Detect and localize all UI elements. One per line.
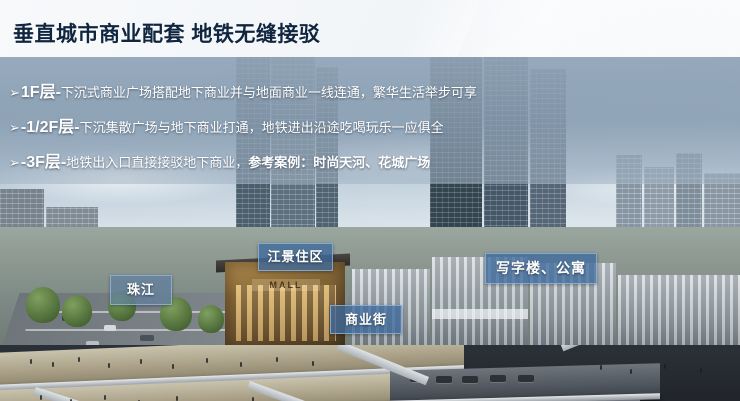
street-tree [198,305,224,333]
page-title: 垂直城市商业配套 地铁无缝接驳 [13,18,320,48]
bullet-arrow-icon: ➢ [9,155,20,170]
bullet-list: ➢1F层-下沉式商业广场搭配地下商业并与地面商业一线连通，繁华生活举步可享 ➢-… [0,57,740,187]
parked-car [518,375,534,382]
mall-signage: MALL [252,279,320,291]
map-label-commercial-street: 商业街 [330,305,402,334]
crowd-figure [252,397,254,401]
crowd-figure [172,364,174,369]
podium-window-grid [618,275,740,345]
retail-podium-d [618,275,740,345]
crowd-figure [176,396,178,401]
mall-glass-facade [236,285,336,341]
crowd-figure [104,395,106,400]
parked-car [490,375,506,382]
crowd-figure [600,365,602,370]
crowd-figure [30,359,32,364]
street-tree [26,287,60,323]
parked-car [462,376,478,383]
bullet-item-b3f: ➢-3F层-地铁出入口直接接驳地下商业，参考案例：时尚天河、花城广场 [9,148,430,172]
bullet-body-text: 地铁出入口直接接驳地下商业， [66,155,248,170]
parked-car [436,376,452,383]
bullet-item-1f: ➢1F层-下沉式商业广场搭配地下商业并与地面商业一线连通，繁华生活举步可享 [9,78,477,102]
map-label-riverview-residential: 江景住区 [258,243,333,271]
bullet-lead-label: 1F层 [21,84,56,101]
street-tree [62,295,92,327]
crowd-figure [78,357,80,362]
crowd-figure [108,363,110,368]
bullet-lead-label: -1/2F层 [21,119,74,136]
bullet-item-b1-2f: ➢-1/2F层-下沉集散广场与地下商业打通，地铁进出沿途吃喝玩乐一应俱全 [9,113,444,137]
bullet-body-text: 下沉集散广场与地下商业打通，地铁进出沿途吃喝玩乐一应俱全 [80,120,444,135]
crowd-figure [312,361,314,366]
map-label-office-apartment: 写字楼、公寓 [485,253,597,284]
street-car [104,325,116,331]
bullet-arrow-icon: ➢ [9,120,20,135]
bullet-lead-label: -3F层 [21,154,61,171]
bullet-arrow-icon: ➢ [9,85,20,100]
crowd-figure [140,359,142,364]
bullet-body-text: 下沉式商业广场搭配地下商业并与地面商业一线连通，繁华生活举步可享 [61,85,477,100]
crowd-figure [240,362,242,367]
crowd-figure [40,395,42,400]
hero-rendering: MALL [0,57,740,401]
crowd-figure [664,364,666,369]
street-car [140,335,154,341]
map-label-zhujiang: 珠江 [110,275,172,305]
escalator [560,345,643,351]
slide-header: 垂直城市商业配套 地铁无缝接驳 [0,0,740,57]
crowd-figure [52,362,54,367]
crowd-figure [276,357,278,362]
bullet-emphasis-text: 参考案例：时尚天河、花城广场 [248,155,430,170]
slide-root: 垂直城市商业配套 地铁无缝接驳 [0,0,740,401]
podium-awning [432,309,528,319]
crowd-figure [700,368,702,373]
crowd-figure [206,358,208,363]
underground-cutaway [0,345,740,401]
crowd-figure [630,369,632,374]
